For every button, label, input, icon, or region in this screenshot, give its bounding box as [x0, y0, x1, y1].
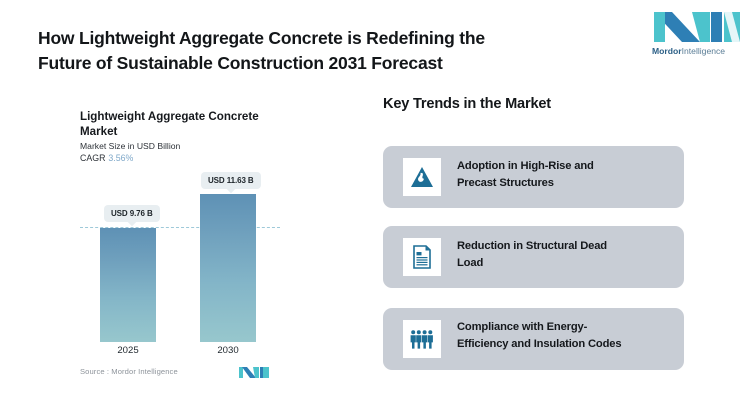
trend-card-energy-efficiency-codes[interactable]: Compliance with Energy- Efficiency and I… [383, 308, 684, 370]
bar-value-label-2030: USD 11.63 B [201, 172, 261, 189]
people-group-icon [403, 320, 441, 358]
bar-chart-plot: USD 9.76 B USD 11.63 B 2025 2030 [0, 100, 360, 400]
trend-card-adoption-high-rise[interactable]: Adoption in High-Rise and Precast Struct… [383, 146, 684, 208]
bar-value-label-2025: USD 9.76 B [104, 205, 160, 222]
trend-card-structural-dead-load[interactable]: Reduction in Structural Dead Load [383, 226, 684, 288]
triangle-flame-icon [403, 158, 441, 196]
mordor-intelligence-logo-icon [652, 10, 744, 44]
document-lines-icon [403, 238, 441, 276]
headline-line-2: Future of Sustainable Construction 2031 … [38, 51, 618, 76]
trend-card-label: Reduction in Structural Dead Load [457, 238, 675, 272]
trend-label-line-1: Adoption in High-Rise and [457, 160, 594, 172]
brand-wordmark: MordorIntelligence [652, 46, 744, 56]
trend-card-label: Compliance with Energy- Efficiency and I… [457, 319, 675, 353]
brand-name-secondary: Intelligence [682, 46, 725, 56]
key-trends-panel: Key Trends in the Market Adoption in Hig… [383, 96, 713, 396]
headline-line-1: How Lightweight Aggregate Concrete is Re… [38, 28, 485, 48]
chart-source: Source : Mordor Intelligence [80, 367, 178, 376]
trend-card-label: Adoption in High-Rise and Precast Struct… [457, 158, 675, 192]
trend-label-line-2: Load [457, 255, 675, 272]
bar-2030[interactable] [200, 194, 256, 342]
brand-name-primary: Mordor [652, 46, 682, 56]
x-axis-label-2025: 2025 [93, 345, 163, 356]
trend-label-line-1: Compliance with Energy- [457, 321, 587, 333]
trend-label-line-2: Precast Structures [457, 175, 675, 192]
mordor-intelligence-small-logo-icon [238, 366, 270, 379]
page-title: How Lightweight Aggregate Concrete is Re… [38, 26, 618, 76]
trend-label-line-2: Efficiency and Insulation Codes [457, 336, 675, 353]
trend-label-line-1: Reduction in Structural Dead [457, 240, 607, 252]
bar-2025[interactable] [100, 228, 156, 342]
header: How Lightweight Aggregate Concrete is Re… [0, 0, 750, 88]
x-axis-label-2030: 2030 [193, 345, 263, 356]
chart-panel: Lightweight Aggregate Concrete Market Ma… [0, 100, 360, 400]
brand-logo: MordorIntelligence [652, 10, 744, 62]
infographic-page: How Lightweight Aggregate Concrete is Re… [0, 0, 750, 413]
trends-title: Key Trends in the Market [383, 96, 551, 112]
